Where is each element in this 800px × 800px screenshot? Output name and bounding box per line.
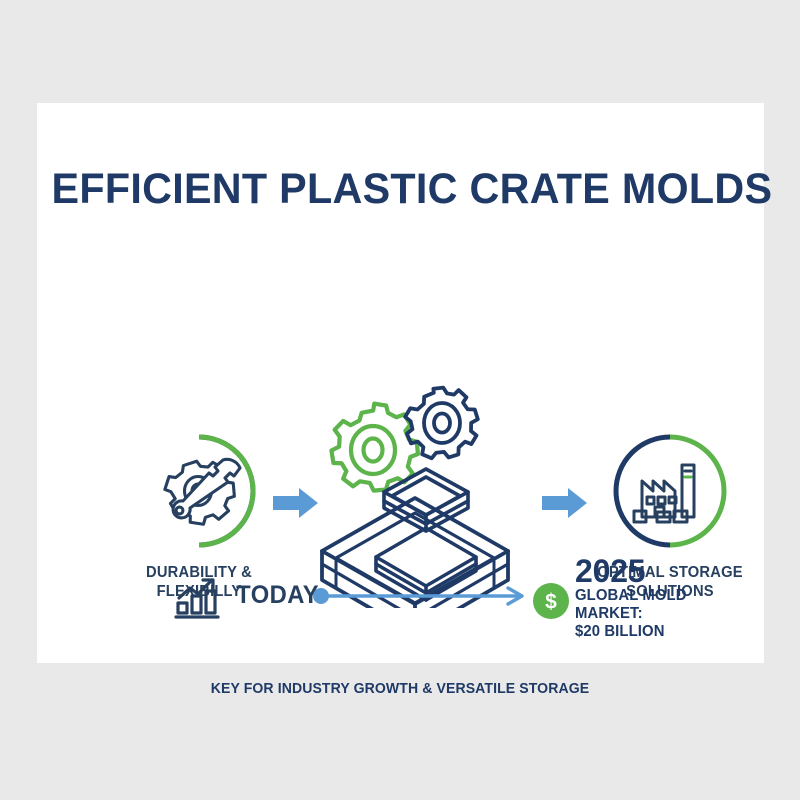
growth-bar-chart-icon <box>172 572 224 629</box>
gear-wrench-icon <box>141 433 257 549</box>
durability-ring <box>141 433 257 549</box>
infographic-card: EFFICIENT PLASTIC CRATE MOLDS <box>37 103 764 663</box>
dollar-coin-icon: $ <box>532 582 570 625</box>
svg-text:$: $ <box>545 591 557 614</box>
infographic-canvas: EFFICIENT PLASTIC CRATE MOLDS <box>0 0 800 800</box>
gear-navy <box>403 384 482 461</box>
factory-icon <box>612 433 728 549</box>
market-timeline: TODAY $ 2025 GLOBAL MOLD MARKET: $20 BIL… <box>132 558 692 648</box>
gear-green <box>326 398 424 496</box>
market-label: GLOBAL MOLD MARKET: <box>575 587 687 623</box>
storage-ring <box>612 433 728 549</box>
market-value: $20 BILLION <box>575 623 687 641</box>
page-title: EFFICIENT PLASTIC CRATE MOLDS <box>52 165 750 214</box>
market-forecast: 2025 GLOBAL MOLD MARKET: $20 BILLION <box>575 555 692 641</box>
footer-caption: KEY FOR INDUSTRY GROWTH & VERSATILE STOR… <box>12 681 788 697</box>
timeline-start-label: TODAY <box>236 581 319 610</box>
forecast-year: 2025 <box>575 555 692 587</box>
timeline-track <box>312 584 528 613</box>
